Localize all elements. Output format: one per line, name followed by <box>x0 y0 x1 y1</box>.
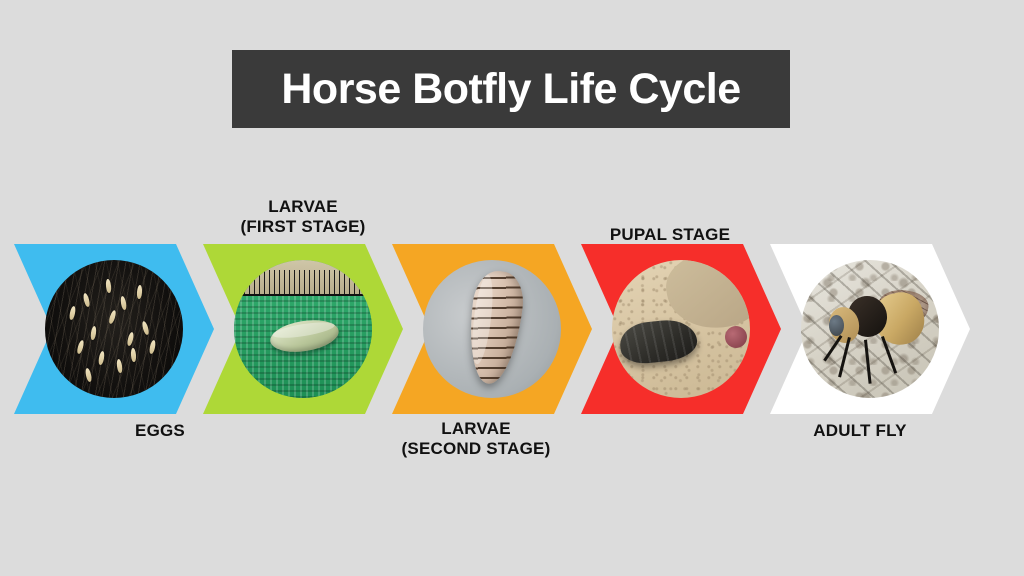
label-larvae-first: LARVAE (FIRST STAGE) <box>203 197 403 237</box>
stage-larvae-first[interactable] <box>203 244 403 414</box>
label-pupal: PUPAL STAGE <box>570 225 770 245</box>
life-cycle-flow <box>0 0 1024 576</box>
stage-pupal[interactable] <box>581 244 781 414</box>
infographic-canvas: Horse Botfly Life Cycle <box>0 0 1024 576</box>
photo-second-stage-larva <box>423 260 561 398</box>
photo-first-stage-larva <box>234 260 372 398</box>
stage-larvae-second[interactable] <box>392 244 592 414</box>
photo-botfly-eggs <box>45 260 183 398</box>
photo-pupa <box>612 260 750 398</box>
label-adult-fly: ADULT FLY <box>760 421 960 441</box>
stage-eggs[interactable] <box>14 244 214 414</box>
stage-adult-fly[interactable] <box>770 244 970 414</box>
label-larvae-second: LARVAE (SECOND STAGE) <box>376 419 576 459</box>
label-eggs: EGGS <box>60 421 260 441</box>
photo-adult-fly <box>801 260 939 398</box>
